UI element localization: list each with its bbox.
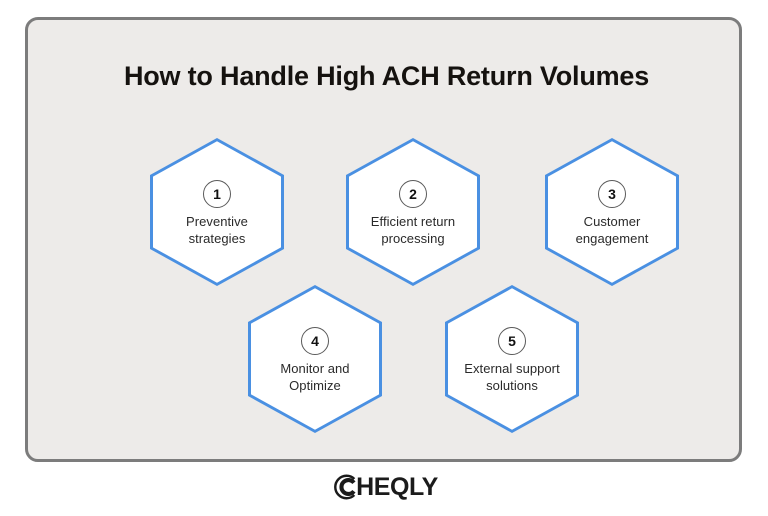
hexagon-step-4[interactable]: 4 Monitor and Optimize [248,285,382,433]
brand-logo: HEQLY [0,472,768,502]
step-number-badge-5: 5 [498,327,526,355]
hexagon-content-2: 2 Efficient return processing [346,138,480,286]
hexagon-content-4: 4 Monitor and Optimize [248,285,382,433]
step-label-1: Preventive strategies [156,213,278,247]
step-number-badge-2: 2 [399,180,427,208]
page-title: How to Handle High ACH Return Volumes [28,60,745,92]
hexagon-content-5: 5 External support solutions [445,285,579,433]
step-number-badge-3: 3 [598,180,626,208]
hexagon-content-1: 1 Preventive strategies [150,138,284,286]
hexagon-content-3: 3 Customer engagement [545,138,679,286]
step-label-2: Efficient return processing [352,213,474,247]
hexagon-step-2[interactable]: 2 Efficient return processing [346,138,480,286]
infographic-card: How to Handle High ACH Return Volumes 1 … [25,17,742,462]
step-label-3: Customer engagement [551,213,673,247]
step-number-badge-4: 4 [301,327,329,355]
infographic-canvas: How to Handle High ACH Return Volumes 1 … [0,0,768,516]
step-label-5: External support solutions [451,360,573,394]
step-number-badge-1: 1 [203,180,231,208]
hexagon-step-3[interactable]: 3 Customer engagement [545,138,679,286]
hexagon-step-1[interactable]: 1 Preventive strategies [150,138,284,286]
brand-logo-text: HEQLY [356,472,438,502]
step-label-4: Monitor and Optimize [254,360,376,394]
hexagon-step-5[interactable]: 5 External support solutions [445,285,579,433]
